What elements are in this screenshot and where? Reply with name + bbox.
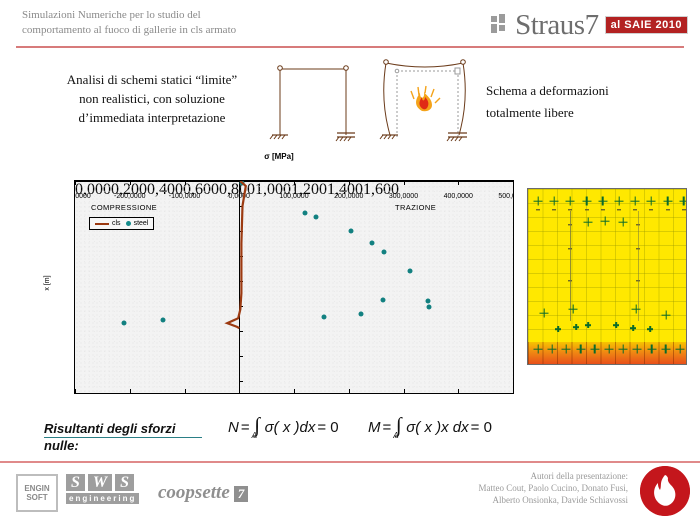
- sws-letters: S W S: [66, 474, 139, 491]
- fem-boundary-node: [576, 345, 585, 354]
- right-caption-line2: totalmente libere: [486, 102, 686, 124]
- right-caption: Schema a deformazioni totalmente libere: [486, 80, 686, 124]
- chart-plot-area: -300,0000-200,0000-100,00000,0000100,000…: [74, 180, 514, 394]
- fem-boundary-node: [676, 345, 685, 354]
- fem-node: [619, 218, 628, 227]
- fem-node: [632, 305, 641, 314]
- fem-node: [534, 197, 543, 206]
- page-title: Simulazioni Numeriche per lo studio del …: [22, 8, 352, 38]
- coopsette-mark-icon: 7: [234, 486, 249, 502]
- slide-root: Simulazioni Numeriche per lo studio del …: [0, 0, 700, 525]
- results-underline: [44, 437, 202, 438]
- zone-label-traction: TRAZIONE: [395, 203, 436, 212]
- fem-node-tick: [617, 209, 621, 210]
- formula-M-integrand: σ( x )x dx: [406, 419, 468, 436]
- integral-icon: ∫ A: [252, 418, 263, 436]
- fem-node: [540, 309, 549, 318]
- integral-icon: ∫ A: [393, 418, 404, 436]
- coopsette-logo: coopsette7: [158, 482, 248, 504]
- fem-node-tick: [601, 209, 605, 210]
- x-tick: [513, 389, 514, 393]
- fem-boundary-node: [534, 345, 543, 354]
- enginsoft-logo: ENGIN SOFT: [16, 474, 58, 512]
- x-tick: [513, 181, 514, 185]
- fem-node: [566, 197, 575, 206]
- formula-M-rhs: = 0: [471, 419, 492, 436]
- fem-node: [615, 197, 624, 206]
- fem-node: [584, 218, 593, 227]
- formula-bending-moment: M = ∫ A σ( x )x dx = 0: [368, 418, 492, 436]
- legend-label-cls: cls: [112, 220, 121, 227]
- fem-node: [555, 326, 561, 332]
- fem-node: [662, 311, 671, 320]
- straus7-logo-text: Straus7: [515, 11, 599, 40]
- results-label-line1: Risultanti degli sforzi: [44, 420, 204, 437]
- left-caption-line2: non realistici, con soluzione: [36, 89, 268, 108]
- saie-badge: al SAIE 2010: [605, 16, 688, 34]
- fem-node: [630, 325, 636, 331]
- left-caption-line3: d’immediata interpretazione: [36, 108, 268, 127]
- frame-sketches: [262, 55, 484, 150]
- fem-node: [585, 322, 591, 328]
- zone-label-compression: COMPRESSIONE: [91, 203, 157, 212]
- coopsette-text: coopsette: [158, 482, 230, 503]
- footer-divider: [0, 461, 700, 463]
- undeformed-frame-sketch: [270, 66, 355, 141]
- sws-subtitle: engineering: [66, 493, 139, 504]
- cls-curve: [75, 181, 513, 393]
- fem-boundary-node: [661, 345, 670, 354]
- fem-node-tick: [585, 209, 589, 210]
- fem-node: [631, 197, 640, 206]
- fem-node-tick: [682, 209, 686, 210]
- sws-letter-w: W: [88, 474, 112, 491]
- fem-node-tick: [552, 209, 556, 210]
- fem-node: [573, 324, 579, 330]
- left-caption: Analisi di schemi statici “limite” non r…: [36, 70, 268, 127]
- sws-letter-s2: S: [115, 474, 134, 491]
- fem-boundary-node: [633, 345, 642, 354]
- fem-node: [598, 197, 607, 206]
- sws-logo: S W S engineering: [66, 474, 139, 504]
- fem-boundary-node: [562, 345, 571, 354]
- legend-item-steel: steel: [126, 220, 149, 227]
- formula-M-domain: A: [393, 431, 398, 440]
- enginsoft-line2: SOFT: [26, 493, 47, 502]
- straus7-logo: Straus7 al SAIE 2010: [491, 8, 688, 42]
- page-title-line2: comportamento al fuoco di gallerie in cl…: [22, 23, 352, 38]
- fem-node: [647, 326, 653, 332]
- fem-node-tick: [536, 209, 540, 210]
- fem-node-tick: [666, 209, 670, 210]
- fem-node-tick: [633, 209, 637, 210]
- authors-credit: Autori della presentazione: Matteo Cout,…: [418, 470, 628, 506]
- flame-icon: [411, 86, 440, 111]
- fem-node: [679, 197, 687, 206]
- fem-node: [613, 322, 619, 328]
- enginsoft-line1: ENGIN: [24, 484, 49, 493]
- legend-item-cls: cls: [95, 220, 121, 227]
- fem-mesh-image: [527, 188, 687, 365]
- formula-M-lhs: M: [368, 419, 381, 436]
- chart-x-title: σ [MPa]: [44, 152, 514, 161]
- left-caption-line1: Analisi di schemi statici “limite”: [36, 70, 268, 89]
- cls-stress-polyline: [227, 181, 246, 328]
- fire-emblem-icon: [640, 466, 690, 516]
- formula-N-rhs: = 0: [317, 419, 338, 436]
- formula-N-lhs: N: [228, 419, 239, 436]
- authors-line3: Alberto Onsionka, Davide Schiavossi: [418, 494, 628, 506]
- fem-node: [663, 197, 672, 206]
- formula-N-domain: A: [252, 431, 257, 440]
- chart-y-title: x [m]: [44, 275, 51, 290]
- results-label-line2: nulle:: [44, 437, 204, 454]
- sws-letter-s1: S: [66, 474, 85, 491]
- formula-N-integrand: σ( x )dx: [265, 419, 316, 436]
- fem-node: [569, 305, 578, 314]
- fem-boundary-node: [590, 345, 599, 354]
- formula-normal-force: N = ∫ A σ( x )dx = 0: [228, 418, 339, 436]
- fem-node: [647, 197, 656, 206]
- formula-M-eq: =: [383, 419, 392, 436]
- straus7-blocks-icon: [491, 14, 513, 36]
- stress-profile-chart: σ [MPa] x [m] -300,0000-200,0000-100,000…: [44, 172, 514, 394]
- legend-label-steel: steel: [134, 220, 149, 227]
- formula-N-eq: =: [241, 419, 250, 436]
- fem-node-tick: [649, 209, 653, 210]
- page-title-line1: Simulazioni Numeriche per lo studio del: [22, 8, 352, 23]
- fem-node: [550, 197, 559, 206]
- fem-node: [582, 197, 591, 206]
- fem-boundary-node: [619, 345, 628, 354]
- fem-grid-lines: [528, 189, 686, 364]
- fem-boundary-node: [548, 345, 557, 354]
- authors-line2: Matteo Cout, Paolo Cucino, Donato Fusi,: [418, 482, 628, 494]
- legend-line-icon: [95, 223, 109, 225]
- fem-boundary-node: [647, 345, 656, 354]
- authors-line1: Autori della presentazione:: [418, 470, 628, 482]
- fem-node: [601, 217, 610, 226]
- legend-dot-icon: [126, 221, 131, 226]
- header-divider: [16, 46, 684, 48]
- right-caption-line1: Schema a deformazioni: [486, 80, 686, 102]
- fem-boundary-node: [605, 345, 614, 354]
- chart-legend: cls steel: [89, 217, 154, 230]
